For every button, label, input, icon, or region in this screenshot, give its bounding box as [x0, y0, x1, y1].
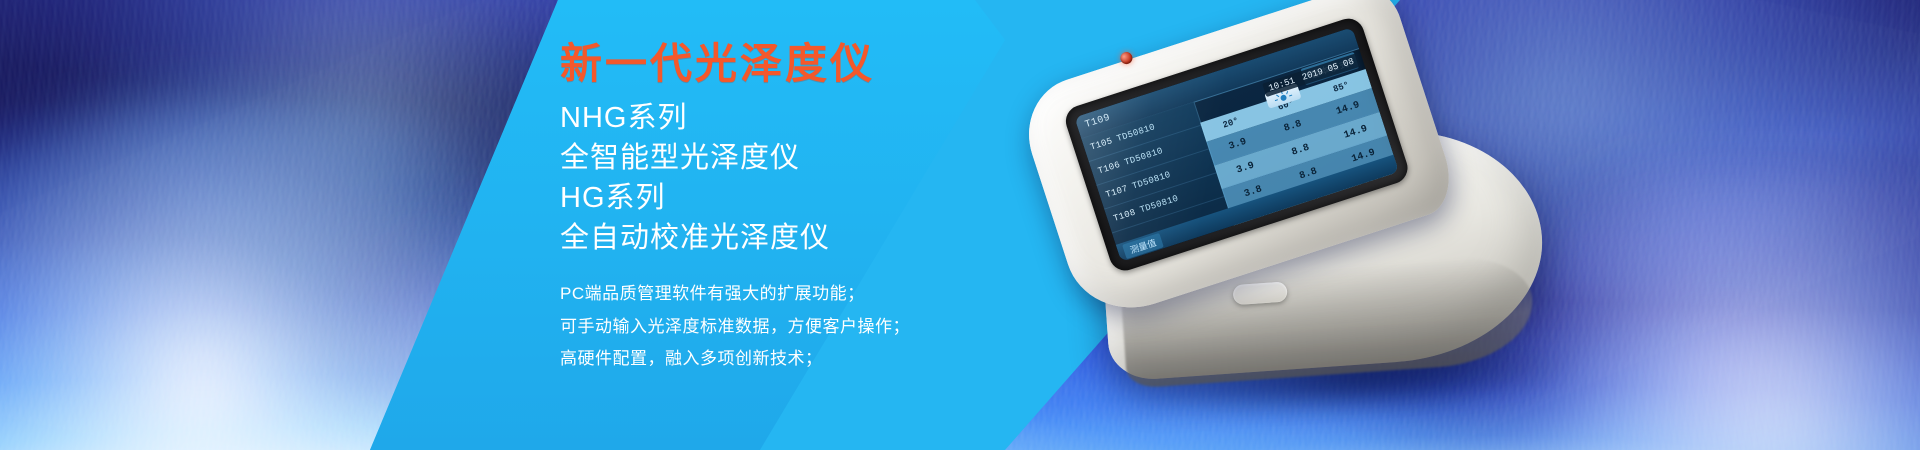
- product-banner: 新一代光泽度仪 NHG系列 全智能型光泽度仪 HG系列 全自动校准光泽度仪 PC…: [0, 0, 1920, 450]
- sample-code: T105: [1089, 136, 1114, 153]
- sample-label: TD50810: [1131, 170, 1172, 192]
- sample-label: TD50810: [1123, 146, 1164, 168]
- device-measure-button[interactable]: [1233, 281, 1288, 305]
- sample-code: T107: [1104, 184, 1129, 201]
- sample-label: TD50810: [1139, 194, 1180, 216]
- screen-sample-id: T109: [1084, 112, 1112, 131]
- sample-code: T106: [1097, 160, 1122, 177]
- gloss-meter-device: 3nh T109 基本模式: [1027, 0, 1584, 436]
- sample-code: T108: [1112, 207, 1137, 224]
- sample-label: TD50810: [1115, 122, 1156, 144]
